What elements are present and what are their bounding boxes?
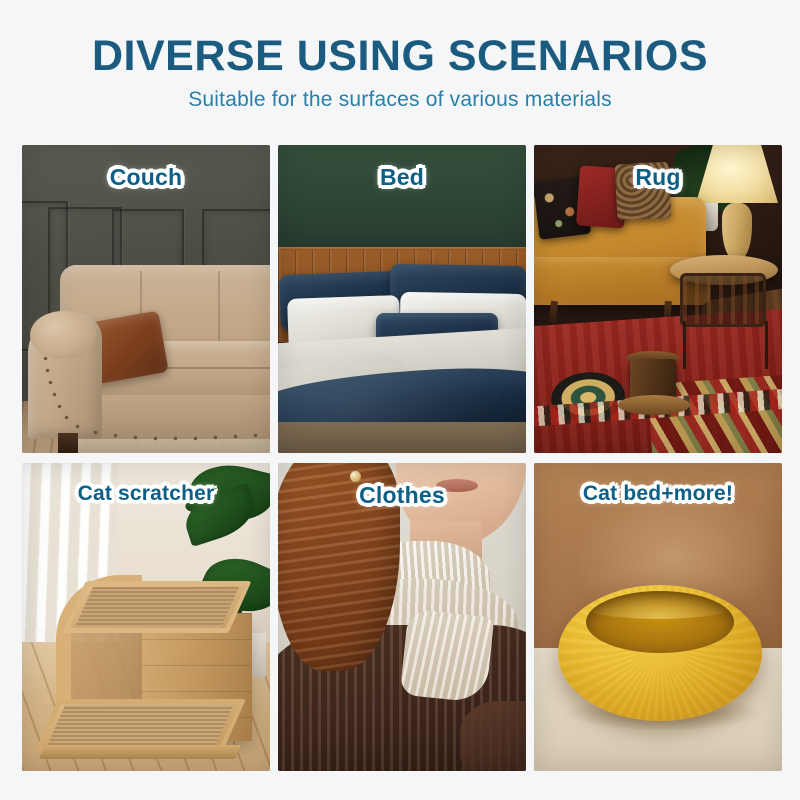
sweater-sleeve	[460, 701, 526, 771]
wooden-tray	[618, 395, 690, 415]
nailhead-trim	[53, 393, 56, 396]
nailhead-trim	[234, 435, 237, 438]
scenario-tile-cat-bed[interactable]: Cat bed+more!	[534, 463, 782, 771]
scratcher-base-rail	[39, 745, 241, 759]
model-lips	[436, 479, 478, 492]
nailhead-trim	[76, 425, 79, 428]
cat-bed-photo	[534, 463, 782, 771]
clothes-photo	[278, 463, 526, 771]
table-leg	[765, 321, 768, 369]
nailhead-trim	[65, 416, 68, 419]
bed-photo	[278, 145, 526, 453]
nailhead-trim	[194, 437, 197, 440]
table-leg	[683, 321, 686, 369]
corrugated-cardboard-top	[75, 587, 239, 627]
nailhead-trim	[214, 436, 217, 439]
scenario-tile-clothes[interactable]: Clothes	[278, 463, 526, 771]
nailhead-trim	[254, 434, 257, 437]
nailhead-trim	[46, 369, 49, 372]
scenario-grid: Couch Bed	[22, 145, 782, 778]
cat-scratcher-photo	[22, 463, 270, 771]
nailhead-trim	[114, 434, 117, 437]
nailhead-trim	[58, 405, 61, 408]
sofa-leg	[58, 433, 78, 453]
side-table-basket	[680, 273, 766, 327]
nailhead-trim	[174, 437, 177, 440]
green-wall	[278, 145, 526, 253]
scenario-tile-rug[interactable]: Rug	[534, 145, 782, 453]
cat-bed-highlight	[582, 593, 734, 619]
scenario-tile-couch[interactable]: Couch	[22, 145, 270, 453]
nailhead-trim	[154, 437, 157, 440]
nailhead-trim	[134, 436, 137, 439]
sofa-arm-roll	[30, 311, 96, 359]
page-subtitle: Suitable for the surfaces of various mat…	[0, 88, 800, 112]
couch-photo	[22, 145, 270, 453]
nailhead-trim	[44, 357, 47, 360]
header: DIVERSE USING SCENARIOS Suitable for the…	[0, 0, 800, 112]
rug-photo	[534, 145, 782, 453]
scenario-tile-cat-scratcher[interactable]: Cat scratcher	[22, 463, 270, 771]
corrugated-cardboard-bottom	[47, 705, 234, 747]
nailhead-trim	[49, 381, 52, 384]
scenario-tile-bed[interactable]: Bed	[278, 145, 526, 453]
page-title: DIVERSE USING SCENARIOS	[0, 34, 800, 79]
textured-cushion	[615, 162, 672, 221]
earring	[350, 471, 361, 482]
bedroom-floor	[278, 422, 526, 453]
nailhead-trim	[94, 431, 97, 434]
